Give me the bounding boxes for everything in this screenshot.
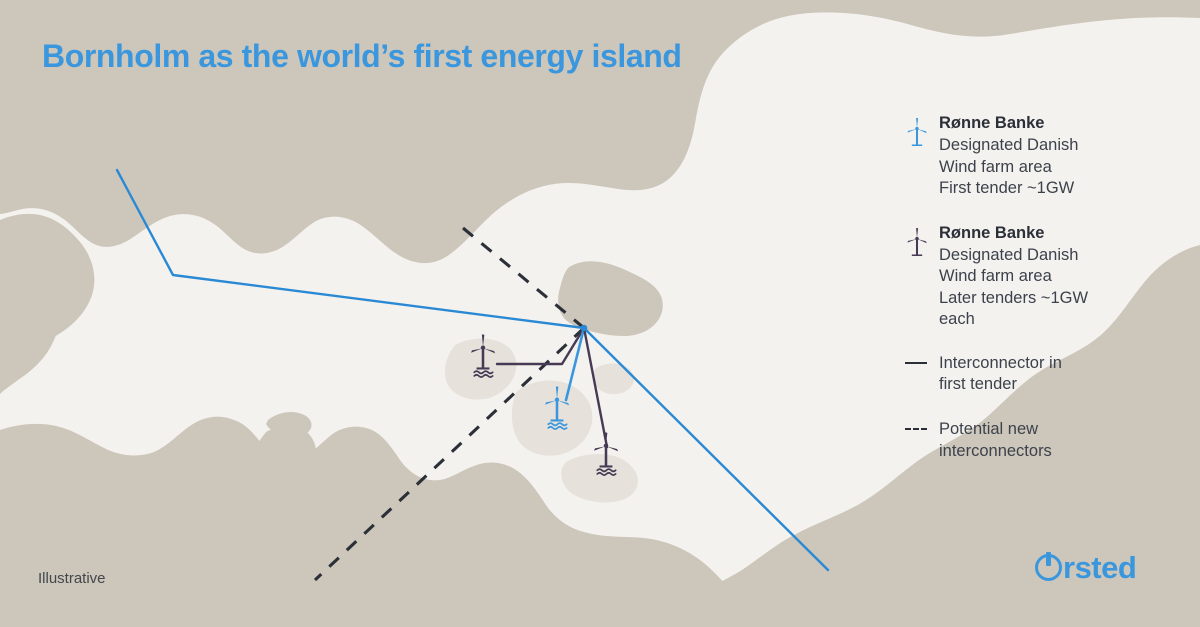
- energy-island-hub[interactable]: [581, 325, 588, 332]
- orsted-o-mark-icon: [1035, 554, 1062, 581]
- legend-item-first-tender: Rønne Banke Designated Danish Wind farm …: [905, 112, 1175, 200]
- legend-line: Wind farm area: [939, 158, 1052, 176]
- legend-item-potential-text: Potential new interconnectors: [939, 419, 1175, 462]
- legend-title-ronne-banke-later: Rønne Banke: [939, 222, 1175, 244]
- legend-item-interconnector-text: Interconnector in first tender: [939, 353, 1175, 396]
- legend-line: First tender ~1GW: [939, 179, 1074, 197]
- solid-line-swatch: [905, 353, 939, 364]
- legend-line: Designated Danish: [939, 136, 1078, 154]
- energy-island-infographic: Bornholm as the world’s first energy isl…: [0, 0, 1200, 627]
- dashed-line-swatch: [905, 419, 939, 430]
- legend-item-potential-interconnectors: Potential new interconnectors: [905, 419, 1175, 462]
- legend-item-first-tender-text: Rønne Banke Designated Danish Wind farm …: [939, 112, 1175, 200]
- legend-item-later-tenders: Rønne Banke Designated Danish Wind farm …: [905, 222, 1175, 331]
- legend-line: interconnectors: [939, 442, 1052, 460]
- legend-line: each: [939, 310, 975, 328]
- legend-line: Designated Danish: [939, 246, 1078, 264]
- legend-line: Interconnector in: [939, 354, 1062, 372]
- legend-line: Later tenders ~1GW: [939, 289, 1088, 307]
- legend-line: Potential new: [939, 420, 1038, 438]
- legend-line: Wind farm area: [939, 267, 1052, 285]
- legend: Rønne Banke Designated Danish Wind farm …: [905, 112, 1175, 486]
- illustrative-label: Illustrative: [38, 570, 106, 587]
- legend-title-ronne-banke-first: Rønne Banke: [939, 112, 1175, 134]
- legend-line: first tender: [939, 375, 1017, 393]
- orsted-wordmark: rsted: [1063, 552, 1136, 583]
- orsted-logo: rsted: [1035, 552, 1136, 583]
- wind-turbine-icon-purple: [905, 222, 939, 256]
- page-title: Bornholm as the world’s first energy isl…: [42, 38, 682, 75]
- legend-item-interconnector-first-tender: Interconnector in first tender: [905, 353, 1175, 396]
- legend-item-later-tenders-text: Rønne Banke Designated Danish Wind farm …: [939, 222, 1175, 331]
- wind-turbine-icon-blue: [905, 112, 939, 146]
